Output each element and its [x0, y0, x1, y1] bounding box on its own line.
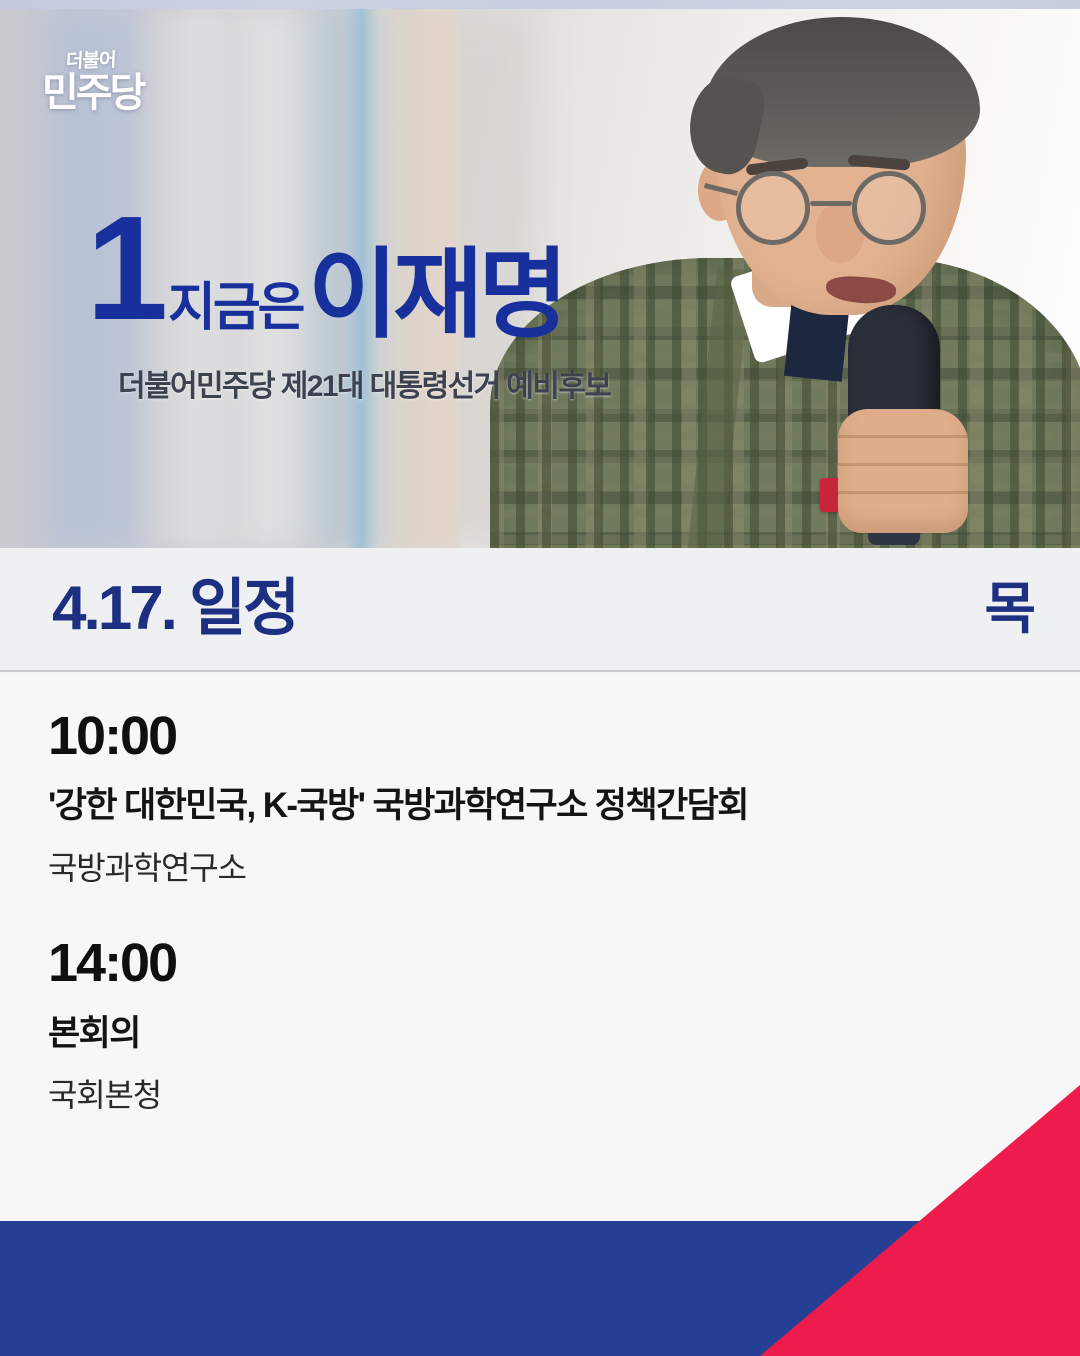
party-logo: 더불어 민주당 — [42, 51, 172, 117]
weekday-label: 목 — [984, 581, 1034, 637]
hero-banner: 더불어 민주당 1 지금은 이재명 더불어민주당 제21대 대통령선거 예비후보 — [0, 9, 1080, 548]
glasses-bridge — [810, 201, 852, 206]
party-logo-main-line: 민주당 — [42, 72, 172, 114]
knuckle-line — [838, 463, 968, 466]
hero-text-block: 더불어 민주당 1 지금은 이재명 더불어민주당 제21대 대통령선거 예비후보 — [0, 9, 640, 548]
event-time: 10:00 — [48, 706, 1032, 766]
glasses-icon — [726, 171, 978, 247]
list-item: 14:00 본회의 국회본청 — [48, 933, 1032, 1116]
knuckle-line — [838, 491, 968, 494]
glasses-lens — [736, 171, 810, 245]
schedule-card: 더불어 민주당 1 지금은 이재명 더불어민주당 제21대 대통령선거 예비후보… — [0, 0, 1080, 1356]
event-location: 국방과학연구소 — [48, 848, 1032, 890]
event-location: 국회본청 — [48, 1075, 1032, 1117]
list-item: 10:00 '강한 대한민국, K-국방' 국방과학연구소 정책간담회 국방과학… — [48, 706, 1032, 889]
glasses-lens — [852, 171, 926, 245]
candidate-name: 이재명 — [308, 245, 563, 343]
event-title: '강한 대한민국, K-국방' 국방과학연구소 정책간담회 — [48, 782, 1032, 829]
party-logo-top-line: 더불어 — [66, 50, 173, 72]
hand — [838, 409, 968, 533]
candidate-number: 1 — [86, 208, 164, 329]
schedule-list: 10:00 '강한 대한민국, K-국방' 국방과학연구소 정책간담회 국방과학… — [0, 674, 1080, 1221]
event-title: 본회의 — [48, 1010, 1032, 1057]
top-strip — [0, 0, 1080, 9]
event-time: 14:00 — [48, 933, 1032, 993]
knuckle-line — [838, 435, 968, 438]
date-header: 4.17. 일정 목 — [0, 548, 1080, 672]
page-title: 4.17. 일정 — [52, 578, 297, 640]
hero-prefix: 지금은 — [168, 282, 303, 334]
hero-subtitle: 더불어민주당 제21대 대통령선거 예비후보 — [118, 361, 610, 405]
footer-bar — [0, 1221, 1080, 1356]
